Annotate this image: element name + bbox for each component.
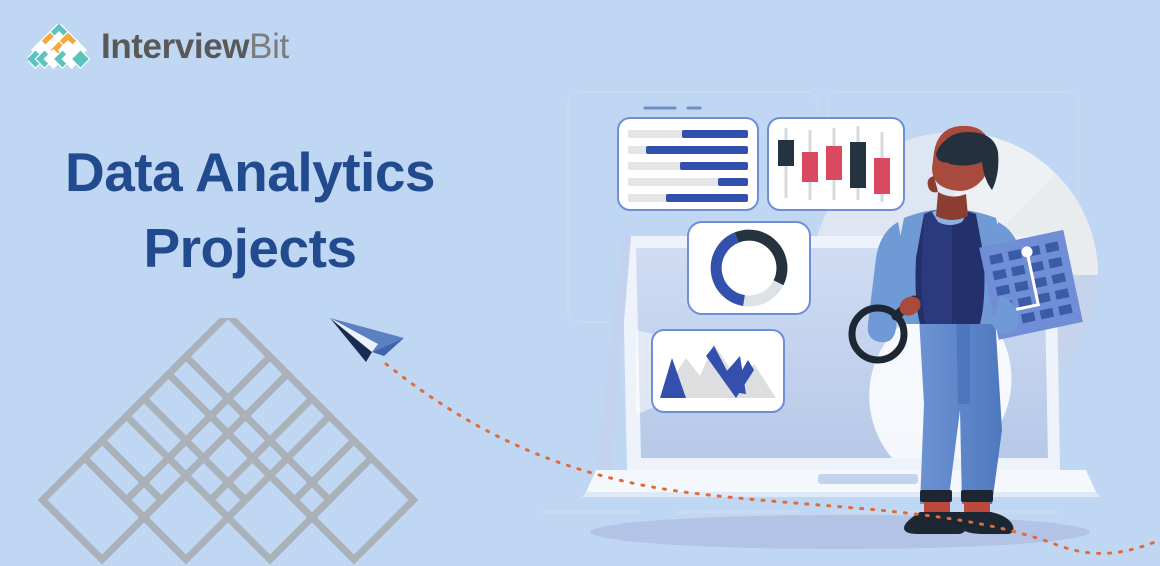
- page-title-line-2: Projects: [0, 211, 500, 287]
- floor-shadow-ellipse: [590, 515, 1090, 549]
- brand-name-primary: Interview: [101, 27, 249, 66]
- brand-logo[interactable]: InterviewBit: [28, 24, 289, 70]
- brand-name-secondary: Bit: [249, 27, 289, 66]
- candlestick-chart-card[interactable]: [768, 118, 904, 210]
- interviewbit-diamond-pyramid-logo-icon: [28, 24, 90, 70]
- page-title-line-1: Data Analytics: [0, 135, 500, 211]
- bar-chart-card[interactable]: [618, 108, 758, 210]
- brand-logo-wordmark: InterviewBit: [101, 27, 289, 67]
- page-title: Data Analytics Projects: [0, 135, 500, 287]
- paper-plane-icon: [330, 318, 404, 362]
- banner-root: InterviewBit Data Analytics Projects: [0, 0, 1160, 566]
- area-chart-card[interactable]: [652, 330, 784, 412]
- donut-chart-card[interactable]: [688, 222, 810, 314]
- data-analyst-illustration: [500, 0, 1160, 566]
- diamond-grid-watermark-icon: [18, 318, 438, 566]
